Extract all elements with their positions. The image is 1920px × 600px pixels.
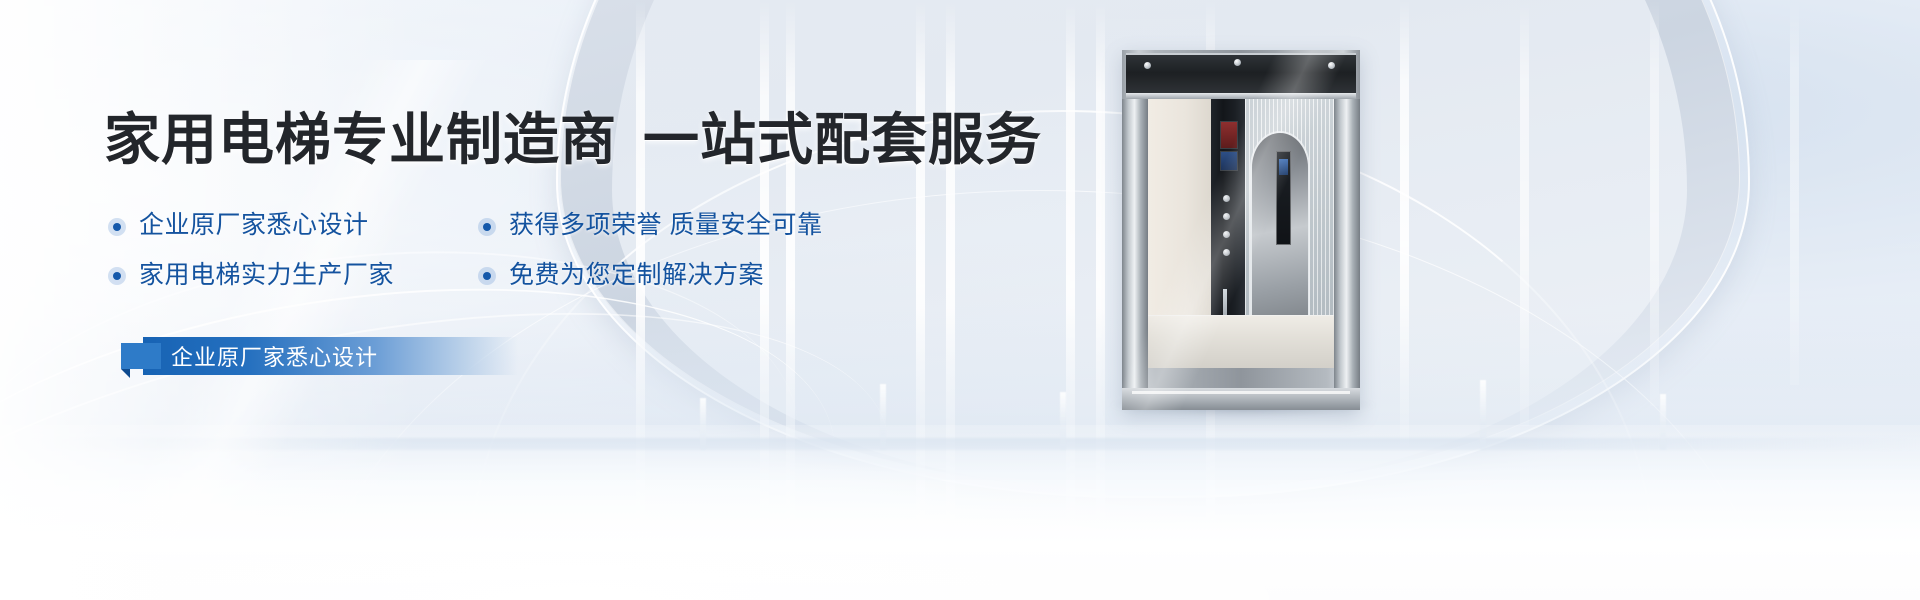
ribbon-flag-icon	[121, 343, 161, 369]
ribbon-label: 企业原厂家悉心设计	[171, 337, 378, 375]
feature-list: 企业原厂家悉心设计 获得多项荣誉 质量安全可靠 家用电梯实力生产厂家 免费为您定…	[108, 212, 988, 311]
headline-part-2: 一站式配套服务	[643, 108, 1042, 171]
feature-row: 企业原厂家悉心设计 获得多项荣誉 质量安全可靠	[108, 212, 988, 240]
feature-item-3: 家用电梯实力生产厂家	[108, 262, 478, 290]
feature-label: 企业原厂家悉心设计	[139, 212, 369, 240]
banner-content: 家用电梯专业制造商一站式配套服务 企业原厂家悉心设计 获得多项荣誉 质量安全可靠…	[0, 0, 1920, 600]
feature-label: 获得多项荣誉 质量安全可靠	[509, 212, 822, 240]
dot-bullet-icon	[478, 267, 496, 285]
headline-part-1: 家用电梯专业制造商	[104, 108, 617, 171]
feature-item-1: 企业原厂家悉心设计	[108, 212, 478, 240]
ribbon-tag: 企业原厂家悉心设计	[113, 337, 518, 375]
feature-label: 家用电梯实力生产厂家	[139, 262, 394, 290]
feature-label: 免费为您定制解决方案	[509, 262, 764, 290]
promo-banner: 家用电梯专业制造商一站式配套服务 企业原厂家悉心设计 获得多项荣誉 质量安全可靠…	[0, 0, 1920, 600]
dot-bullet-icon	[108, 267, 126, 285]
dot-bullet-icon	[108, 218, 126, 236]
feature-row: 家用电梯实力生产厂家 免费为您定制解决方案	[108, 262, 988, 290]
ribbon-fold-icon	[121, 369, 130, 378]
banner-headline: 家用电梯专业制造商一站式配套服务	[104, 112, 1042, 168]
feature-item-2: 获得多项荣誉 质量安全可靠	[478, 212, 822, 240]
dot-bullet-icon	[478, 218, 496, 236]
feature-item-4: 免费为您定制解决方案	[478, 262, 764, 290]
